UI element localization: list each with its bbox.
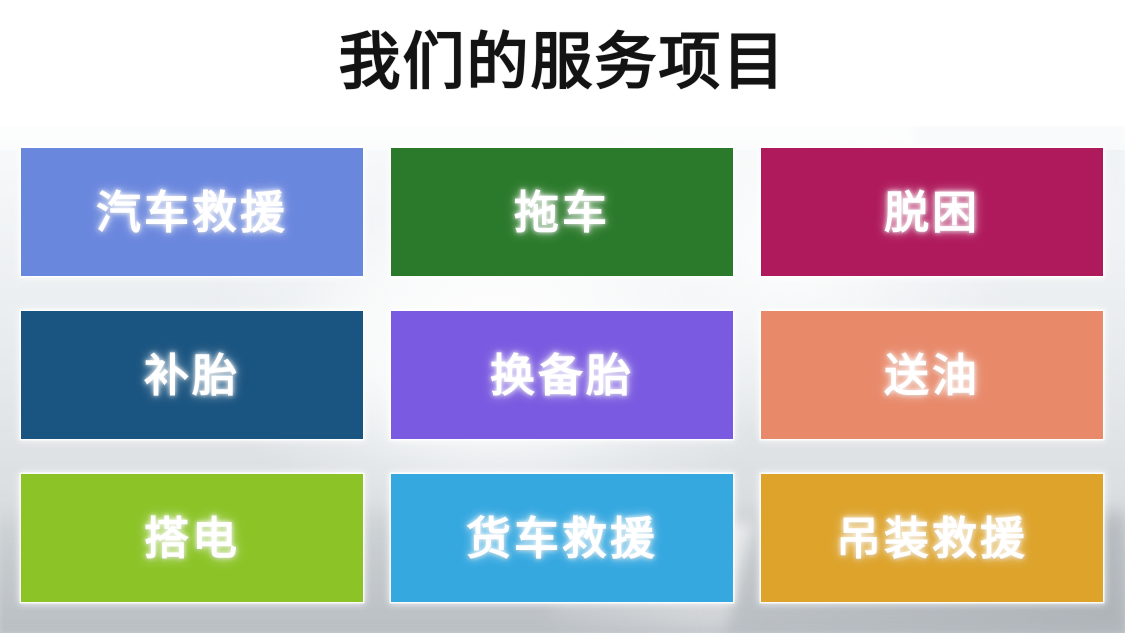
service-tile-label: 货车救援 [466,516,658,561]
service-tile-label: 吊装救援 [836,516,1028,561]
service-tile-label: 拖车 [514,190,610,235]
service-menu-screen: 我们的服务项目 汽车救援 拖车 脱困 补胎 换备胎 送油 搭电 货车救援 吊装救… [0,0,1125,633]
service-tile-label: 换备胎 [490,353,634,398]
page-header: 我们的服务项目 [0,0,1125,126]
service-tile-label: 搭电 [144,516,240,561]
service-tile-label: 补胎 [144,353,240,398]
service-tile-tire-repair[interactable]: 补胎 [21,311,363,439]
page-title: 我们的服务项目 [338,32,786,94]
service-tile-fuel-delivery[interactable]: 送油 [761,311,1103,439]
service-tile-label: 汽车救援 [96,190,288,235]
service-tile-towing[interactable]: 拖车 [391,148,733,276]
service-tile-jump-start[interactable]: 搭电 [21,474,363,602]
service-tile-crane-rescue[interactable]: 吊装救援 [761,474,1103,602]
service-tile-grid: 汽车救援 拖车 脱困 补胎 换备胎 送油 搭电 货车救援 吊装救援 [21,148,1104,614]
service-tile-car-rescue[interactable]: 汽车救援 [21,148,363,276]
service-tile-extrication[interactable]: 脱困 [761,148,1103,276]
service-tile-truck-rescue[interactable]: 货车救援 [391,474,733,602]
service-tile-label: 送油 [884,353,980,398]
service-tile-label: 脱困 [884,190,980,235]
service-tile-spare-tire-change[interactable]: 换备胎 [391,311,733,439]
